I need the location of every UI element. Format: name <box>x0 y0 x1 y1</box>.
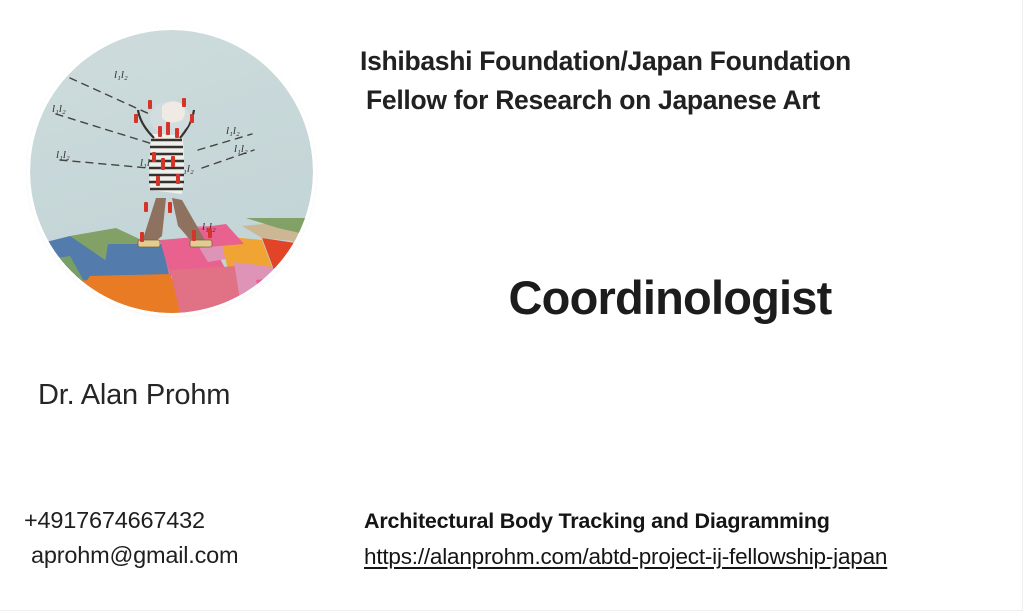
project-info: Architectural Body Tracking and Diagramm… <box>364 505 887 574</box>
role-title: Coordinologist <box>360 270 980 325</box>
project-url-link[interactable]: https://alanprohm.com/abtd-project-ij-fe… <box>364 540 887 574</box>
fellowship-heading: Ishibashi Foundation/Japan Foundation Fe… <box>360 42 960 120</box>
phone-number[interactable]: +4917674667432 <box>24 503 238 538</box>
fellowship-line-1: Ishibashi Foundation/Japan Foundation <box>360 42 960 81</box>
photo-image: l₁l₂ l₁l₂ l₁l₂ l₁l₂ l₁l₂ l₁l₂ l₁l₂ l₁l₂ <box>30 30 313 313</box>
email-address[interactable]: aprohm@gmail.com <box>24 538 238 573</box>
person-name: Dr. Alan Prohm <box>38 379 230 412</box>
project-title: Architectural Body Tracking and Diagramm… <box>364 505 887 537</box>
contact-details: +4917674667432 aprohm@gmail.com <box>24 503 238 573</box>
profile-photo: l₁l₂ l₁l₂ l₁l₂ l₁l₂ l₁l₂ l₁l₂ l₁l₂ l₁l₂ <box>30 30 313 313</box>
business-card: l₁l₂ l₁l₂ l₁l₂ l₁l₂ l₁l₂ l₁l₂ l₁l₂ l₁l₂ <box>0 0 1023 611</box>
fellowship-line-2: Fellow for Research on Japanese Art <box>360 81 960 120</box>
